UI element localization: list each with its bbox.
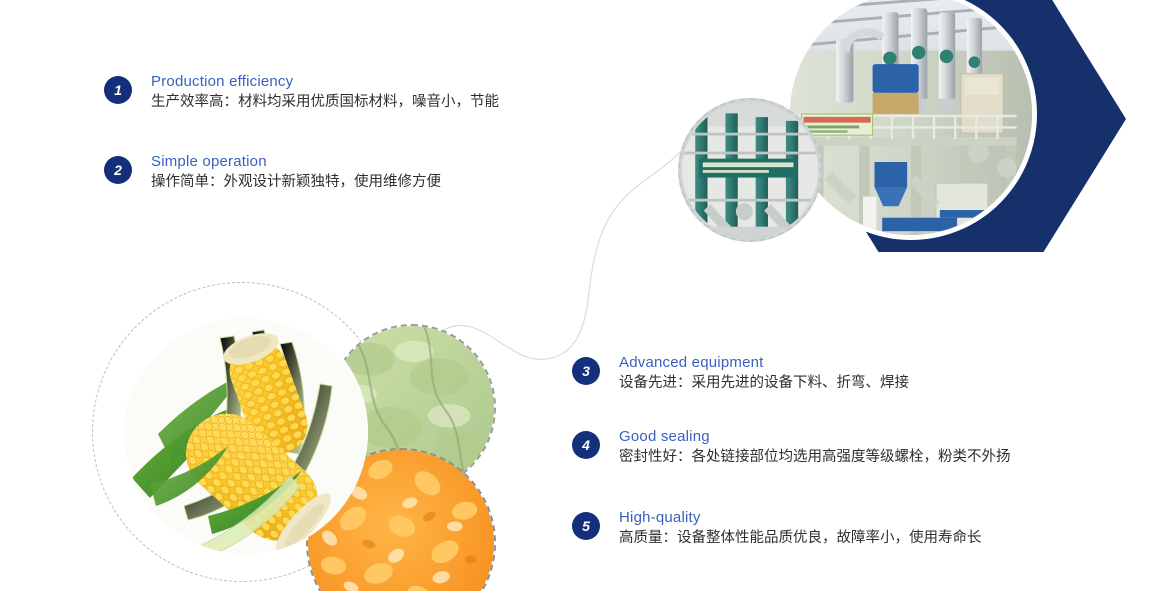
feature-badge-5: 5 <box>572 512 600 540</box>
feature-badge-3: 3 <box>572 357 600 385</box>
top-right-media-group <box>660 0 1154 266</box>
feature-desc-2: 操作简单：外观设计新颖独特，使用维修方便 <box>151 171 441 193</box>
feature-badge-2: 2 <box>104 156 132 184</box>
feature-desc-1: 生产效率高：材料均采用优质国标材料，噪音小，节能 <box>151 91 499 113</box>
feature-title-3: Advanced equipment <box>619 353 909 372</box>
feature-title-4: Good sealing <box>619 427 1011 446</box>
bottom-left-media-group <box>88 278 508 591</box>
feature-item-3[interactable]: 3 Advanced equipment 设备先进：采用先进的设备下料、折弯、焊… <box>572 353 909 394</box>
feature-title-1: Production efficiency <box>151 72 499 91</box>
feature-text-2: Simple operation 操作简单：外观设计新颖独特，使用维修方便 <box>151 152 441 193</box>
feature-text-5: High-quality 高质量：设备整体性能品质优良，故障率小，使用寿命长 <box>619 508 982 549</box>
feature-text-4: Good sealing 密封性好：各处链接部位均选用高强度等级螺栓，粉类不外扬 <box>619 427 1011 468</box>
feature-item-5[interactable]: 5 High-quality 高质量：设备整体性能品质优良，故障率小，使用寿命长 <box>572 508 982 549</box>
feature-title-5: High-quality <box>619 508 982 527</box>
feature-text-3: Advanced equipment 设备先进：采用先进的设备下料、折弯、焊接 <box>619 353 909 394</box>
feature-item-1[interactable]: 1 Production efficiency 生产效率高：材料均采用优质国标材… <box>104 72 499 113</box>
feature-title-2: Simple operation <box>151 152 441 171</box>
feature-badge-4: 4 <box>572 431 600 459</box>
green-mill-machinery-photo <box>678 98 822 242</box>
feature-item-2[interactable]: 2 Simple operation 操作简单：外观设计新颖独特，使用维修方便 <box>104 152 441 193</box>
feature-text-1: Production efficiency 生产效率高：材料均采用优质国标材料，… <box>151 72 499 113</box>
feature-item-4[interactable]: 4 Good sealing 密封性好：各处链接部位均选用高强度等级螺栓，粉类不… <box>572 427 1011 468</box>
feature-desc-3: 设备先进：采用先进的设备下料、折弯、焊接 <box>619 372 909 394</box>
corn-cob-photo <box>124 310 368 554</box>
poster-canvas: 1 Production efficiency 生产效率高：材料均采用优质国标材… <box>0 0 1154 591</box>
feature-badge-1: 1 <box>104 76 132 104</box>
feature-desc-5: 高质量：设备整体性能品质优良，故障率小，使用寿命长 <box>619 527 982 549</box>
feature-desc-4: 密封性好：各处链接部位均选用高强度等级螺栓，粉类不外扬 <box>619 446 1011 468</box>
